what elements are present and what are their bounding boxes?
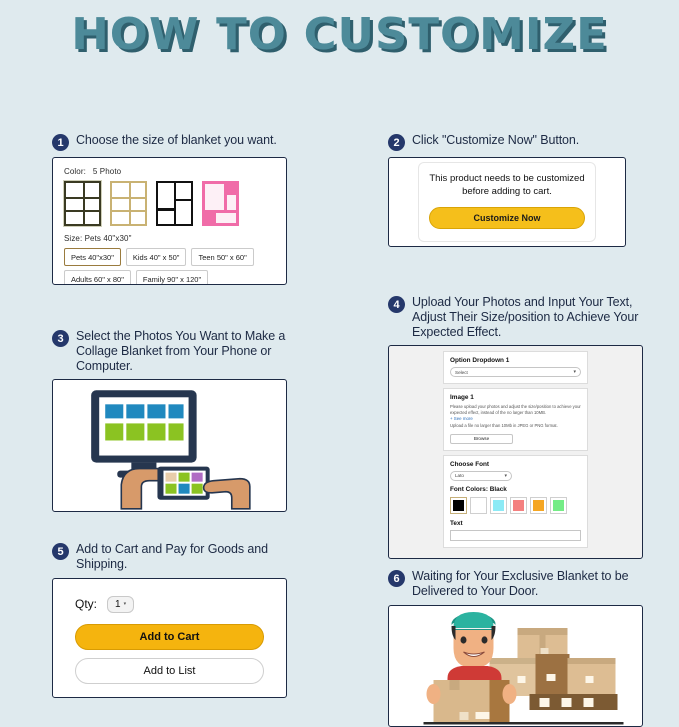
step-1-badge: 1 — [52, 134, 69, 151]
size-option-kids[interactable]: Kids 40" x 50" — [126, 248, 187, 266]
add-to-cart-button[interactable]: Add to Cart — [75, 624, 264, 650]
phone-tile — [192, 473, 203, 482]
swatch-orange[interactable] — [530, 497, 547, 514]
chevron-down-icon: ▾ — [124, 601, 127, 607]
courier-hand — [503, 684, 517, 704]
step-2: 2 Click "Customize Now" Button. This pro… — [388, 133, 626, 247]
right-hand — [204, 479, 250, 509]
chevron-down-icon: ▾ — [573, 369, 576, 375]
delivery-illustration — [389, 606, 642, 726]
font-colors-title: Font Colors: Black — [450, 486, 581, 493]
step-5-badge: 5 — [52, 543, 69, 560]
held-box-label — [460, 712, 469, 720]
font-select-value: Lato — [455, 473, 464, 478]
color-value-text: 5 Photo — [93, 167, 121, 176]
customize-message: This product needs to be customized befo… — [429, 173, 585, 199]
step-1-panel: Color: 5 Photo Size: Pets 40"x30" — [52, 157, 287, 285]
option-dropdown-value: Select — [455, 370, 468, 375]
step-4-text: Upload Your Photos and Input Your Text, … — [412, 295, 643, 339]
swatch-cyan[interactable] — [490, 497, 507, 514]
step-5: 5 Add to Cart and Pay for Goods and Ship… — [52, 542, 287, 698]
image-upload-help: Please upload your photos and adjust the… — [450, 404, 581, 416]
screen-tile — [105, 405, 123, 419]
courier-eye — [482, 636, 488, 643]
option-dropdown-card: Option Dropdown 1 Select ▾ — [443, 351, 588, 384]
phone-tile — [192, 484, 203, 494]
step-2-text: Click "Customize Now" Button. — [412, 133, 579, 148]
step-3-panel — [52, 379, 287, 512]
step-4-badge: 4 — [388, 296, 405, 313]
size-option-family[interactable]: Family 90" x 120" — [136, 270, 208, 285]
page-title: HOW TO CUSTOMIZE — [0, 0, 679, 57]
size-option-adults[interactable]: Adults 60" x 80" — [64, 270, 131, 285]
held-box-flap — [450, 680, 460, 690]
collage-thumb-olive-grid[interactable] — [64, 181, 101, 226]
screen-tile — [105, 424, 123, 441]
size-label: Size: Pets 40"x30" — [64, 234, 275, 243]
customize-now-button[interactable]: Customize Now — [429, 207, 585, 229]
option-dropdown-select[interactable]: Select ▾ — [450, 367, 581, 377]
browse-button[interactable]: Browse — [450, 434, 513, 444]
collage-thumb-pink-asymmetric[interactable] — [202, 181, 239, 226]
screen-tile — [147, 424, 165, 441]
font-select[interactable]: Lato ▾ — [450, 471, 512, 481]
upload-note: Upload a file no larger than 10Mb in JPE… — [450, 423, 581, 429]
held-box-label — [476, 712, 490, 719]
size-option-teen[interactable]: Teen 50" x 60" — [191, 248, 253, 266]
image-upload-title: Image 1 — [450, 394, 581, 401]
courier-eye — [461, 636, 467, 643]
courier-cap-top — [454, 612, 494, 628]
phone-tile — [179, 484, 190, 494]
add-to-list-button[interactable]: Add to List — [75, 658, 264, 684]
step-4-header: 4 Upload Your Photos and Input Your Text… — [388, 295, 643, 339]
text-input[interactable] — [450, 530, 581, 541]
step-2-panel: This product needs to be customized befo… — [388, 157, 626, 247]
parcel-label — [584, 698, 594, 707]
parcel-label — [562, 698, 572, 707]
step-3-header: 3 Select the Photos You Want to Make a C… — [52, 329, 287, 373]
swatch-green[interactable] — [550, 497, 567, 514]
parcel-box-flap — [490, 658, 536, 664]
choose-font-title: Choose Font — [450, 461, 581, 468]
step-1-text: Choose the size of blanket you want. — [76, 133, 277, 148]
font-color-swatch-list — [450, 497, 581, 514]
step-6-header: 6 Waiting for Your Exclusive Blanket to … — [388, 569, 643, 599]
screen-tile — [168, 405, 183, 419]
chevron-down-icon: ▾ — [504, 473, 507, 479]
phone-tile — [165, 484, 176, 494]
step-5-panel: Qty: 1 ▾ Add to Cart Add to List — [52, 578, 287, 698]
screen-tile — [126, 424, 144, 441]
screen-tile — [147, 405, 165, 419]
step-1: 1 Choose the size of blanket you want. C… — [52, 133, 287, 285]
swatch-black[interactable] — [450, 497, 467, 514]
option-dropdown-title: Option Dropdown 1 — [450, 357, 581, 364]
phone-tile — [165, 473, 176, 482]
photo-selection-illustration — [53, 380, 286, 511]
parcel-label — [518, 676, 526, 683]
parcel-label — [547, 674, 556, 681]
parcel-label — [541, 648, 549, 654]
customizer-form: Option Dropdown 1 Select ▾ Image 1 Pleas… — [443, 351, 588, 547]
color-label: Color: 5 Photo — [64, 167, 275, 176]
courier-hand — [427, 684, 441, 704]
quantity-stepper[interactable]: 1 ▾ — [107, 596, 134, 613]
step-6-text: Waiting for Your Exclusive Blanket to be… — [412, 569, 643, 599]
collage-thumb-tan-grid[interactable] — [110, 181, 147, 226]
step-6-panel — [388, 605, 643, 727]
collage-thumbnail-list — [64, 181, 275, 226]
collage-thumb-black-asymmetric[interactable] — [156, 181, 193, 226]
step-5-text: Add to Cart and Pay for Goods and Shippi… — [76, 542, 287, 572]
quantity-value: 1 — [115, 599, 121, 610]
parcel-label — [586, 676, 594, 683]
courier-face — [454, 630, 494, 668]
steps-board: 1 Choose the size of blanket you want. C… — [0, 57, 679, 662]
step-2-header: 2 Click "Customize Now" Button. — [388, 133, 626, 151]
step-1-header: 1 Choose the size of blanket you want. — [52, 133, 287, 151]
step-3: 3 Select the Photos You Want to Make a C… — [52, 329, 287, 512]
quantity-row: Qty: 1 ▾ — [75, 596, 264, 613]
step-6-badge: 6 — [388, 570, 405, 587]
swatch-salmon[interactable] — [510, 497, 527, 514]
screen-tile — [168, 424, 183, 441]
size-option-pets[interactable]: Pets 40"x30" — [64, 248, 121, 266]
parcel-box-flap — [568, 658, 616, 664]
color-label-text: Color: — [64, 167, 86, 176]
step-4-panel: Option Dropdown 1 Select ▾ Image 1 Pleas… — [388, 345, 643, 559]
ground-line — [424, 722, 624, 725]
customize-card: This product needs to be customized befo… — [418, 162, 596, 243]
phone-tile — [179, 473, 190, 482]
see-more-link[interactable]: + See more — [450, 416, 581, 421]
font-options-card: Choose Font Lato ▾ Font Colors: Black — [443, 455, 588, 548]
step-5-header: 5 Add to Cart and Pay for Goods and Ship… — [52, 542, 287, 572]
text-field-title: Text — [450, 520, 581, 527]
step-3-badge: 3 — [52, 330, 69, 347]
quantity-label: Qty: — [75, 597, 97, 611]
size-option-list: Pets 40"x30" Kids 40" x 50" Teen 50" x 6… — [64, 248, 275, 285]
image-upload-card: Image 1 Please upload your photos and ad… — [443, 388, 588, 450]
swatch-white[interactable] — [470, 497, 487, 514]
screen-tile — [126, 405, 144, 419]
parcel-label — [540, 698, 550, 707]
step-4: 4 Upload Your Photos and Input Your Text… — [388, 295, 643, 559]
step-6: 6 Waiting for Your Exclusive Blanket to … — [388, 569, 643, 727]
step-2-badge: 2 — [388, 134, 405, 151]
step-3-text: Select the Photos You Want to Make a Col… — [76, 329, 287, 373]
